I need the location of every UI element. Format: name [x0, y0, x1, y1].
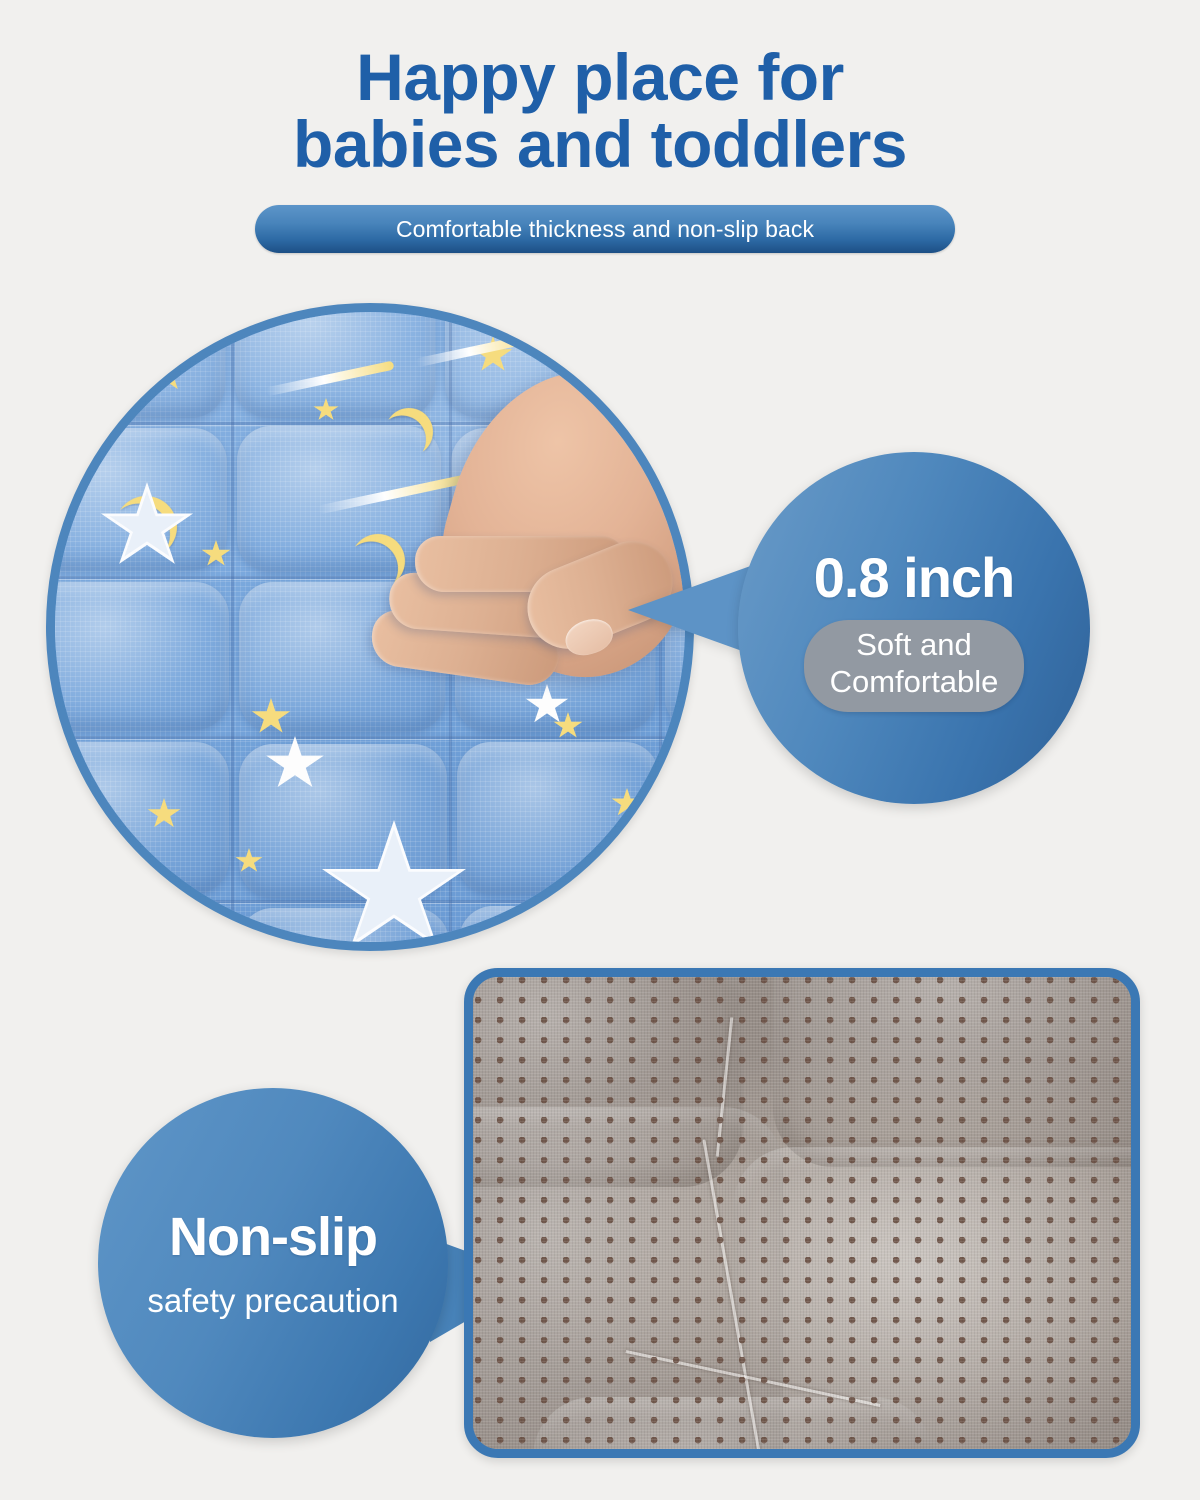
subtitle-banner: Comfortable thickness and non-slip back: [255, 205, 955, 253]
quilted-mattress-photo: [46, 303, 694, 951]
subtitle-text: Comfortable thickness and non-slip back: [396, 216, 814, 243]
header: Happy place for babies and toddlers: [0, 44, 1200, 179]
page-title: Happy place for babies and toddlers: [0, 44, 1200, 179]
headline-line-2: babies and toddlers: [0, 111, 1200, 178]
nonslip-backing-photo: [464, 968, 1140, 1458]
nonslip-title: Non-slip: [169, 1210, 377, 1264]
nonslip-subtitle: safety precaution: [147, 1284, 398, 1317]
thickness-callout-content: 0.8 inch Soft and Comfortable: [738, 452, 1090, 804]
soft-comfortable-pill: Soft and Comfortable: [804, 620, 1025, 711]
nonslip-callout-bubble: Non-slip safety precaution: [98, 1088, 448, 1438]
product-infographic: Happy place for babies and toddlers Comf…: [0, 0, 1200, 1500]
nonslip-callout-content: Non-slip safety precaution: [98, 1088, 448, 1438]
soft-pill-line-2: Comfortable: [830, 664, 999, 701]
soft-pill-line-1: Soft and: [830, 627, 999, 664]
thickness-callout-bubble: 0.8 inch Soft and Comfortable: [738, 452, 1090, 804]
headline-line-1: Happy place for: [0, 44, 1200, 111]
bubble-tail: [628, 564, 756, 656]
backing-weave-texture: [473, 977, 1131, 1449]
thickness-value: 0.8 inch: [814, 550, 1015, 606]
